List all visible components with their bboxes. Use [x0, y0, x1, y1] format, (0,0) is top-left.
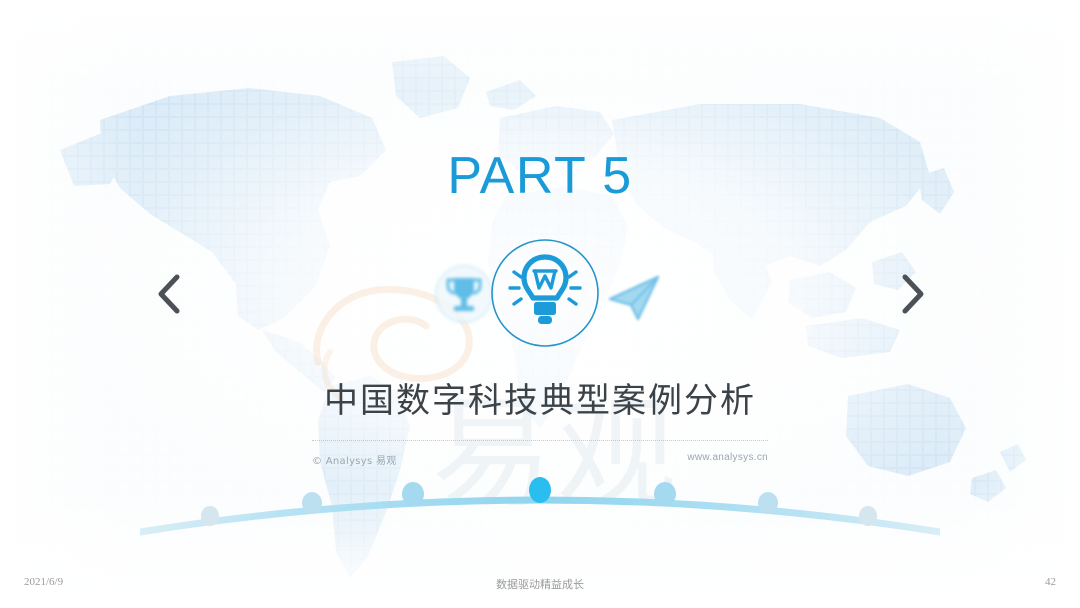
slide-content: PART 5: [0, 0, 1080, 608]
progress-dots: [201, 477, 877, 526]
trophy-icon[interactable]: [432, 262, 496, 326]
slide-title: 中国数字科技典型案例分析: [0, 373, 1080, 422]
progress-arc-line: [140, 500, 940, 532]
part-label: PART 5: [0, 146, 1080, 206]
footer-tagline: 数据驱动精益成长: [0, 576, 1080, 592]
carousel-progress-arc[interactable]: [140, 462, 940, 552]
progress-dot: [859, 506, 877, 526]
credit-divider: [312, 440, 768, 441]
progress-dot: [529, 477, 551, 503]
progress-dot: [402, 482, 424, 506]
progress-dot: [302, 492, 322, 514]
chevron-right-icon[interactable]: [890, 268, 934, 320]
presentation-slide: 易观 PART 5: [0, 0, 1080, 608]
paper-plane-icon[interactable]: [602, 265, 666, 329]
lightbulb-idea-icon[interactable]: [490, 238, 600, 348]
progress-dot: [758, 492, 778, 514]
progress-dot: [201, 506, 219, 526]
chevron-left-icon[interactable]: [148, 268, 192, 320]
progress-dot: [654, 482, 676, 506]
footer-page-number: 42: [1045, 576, 1056, 588]
